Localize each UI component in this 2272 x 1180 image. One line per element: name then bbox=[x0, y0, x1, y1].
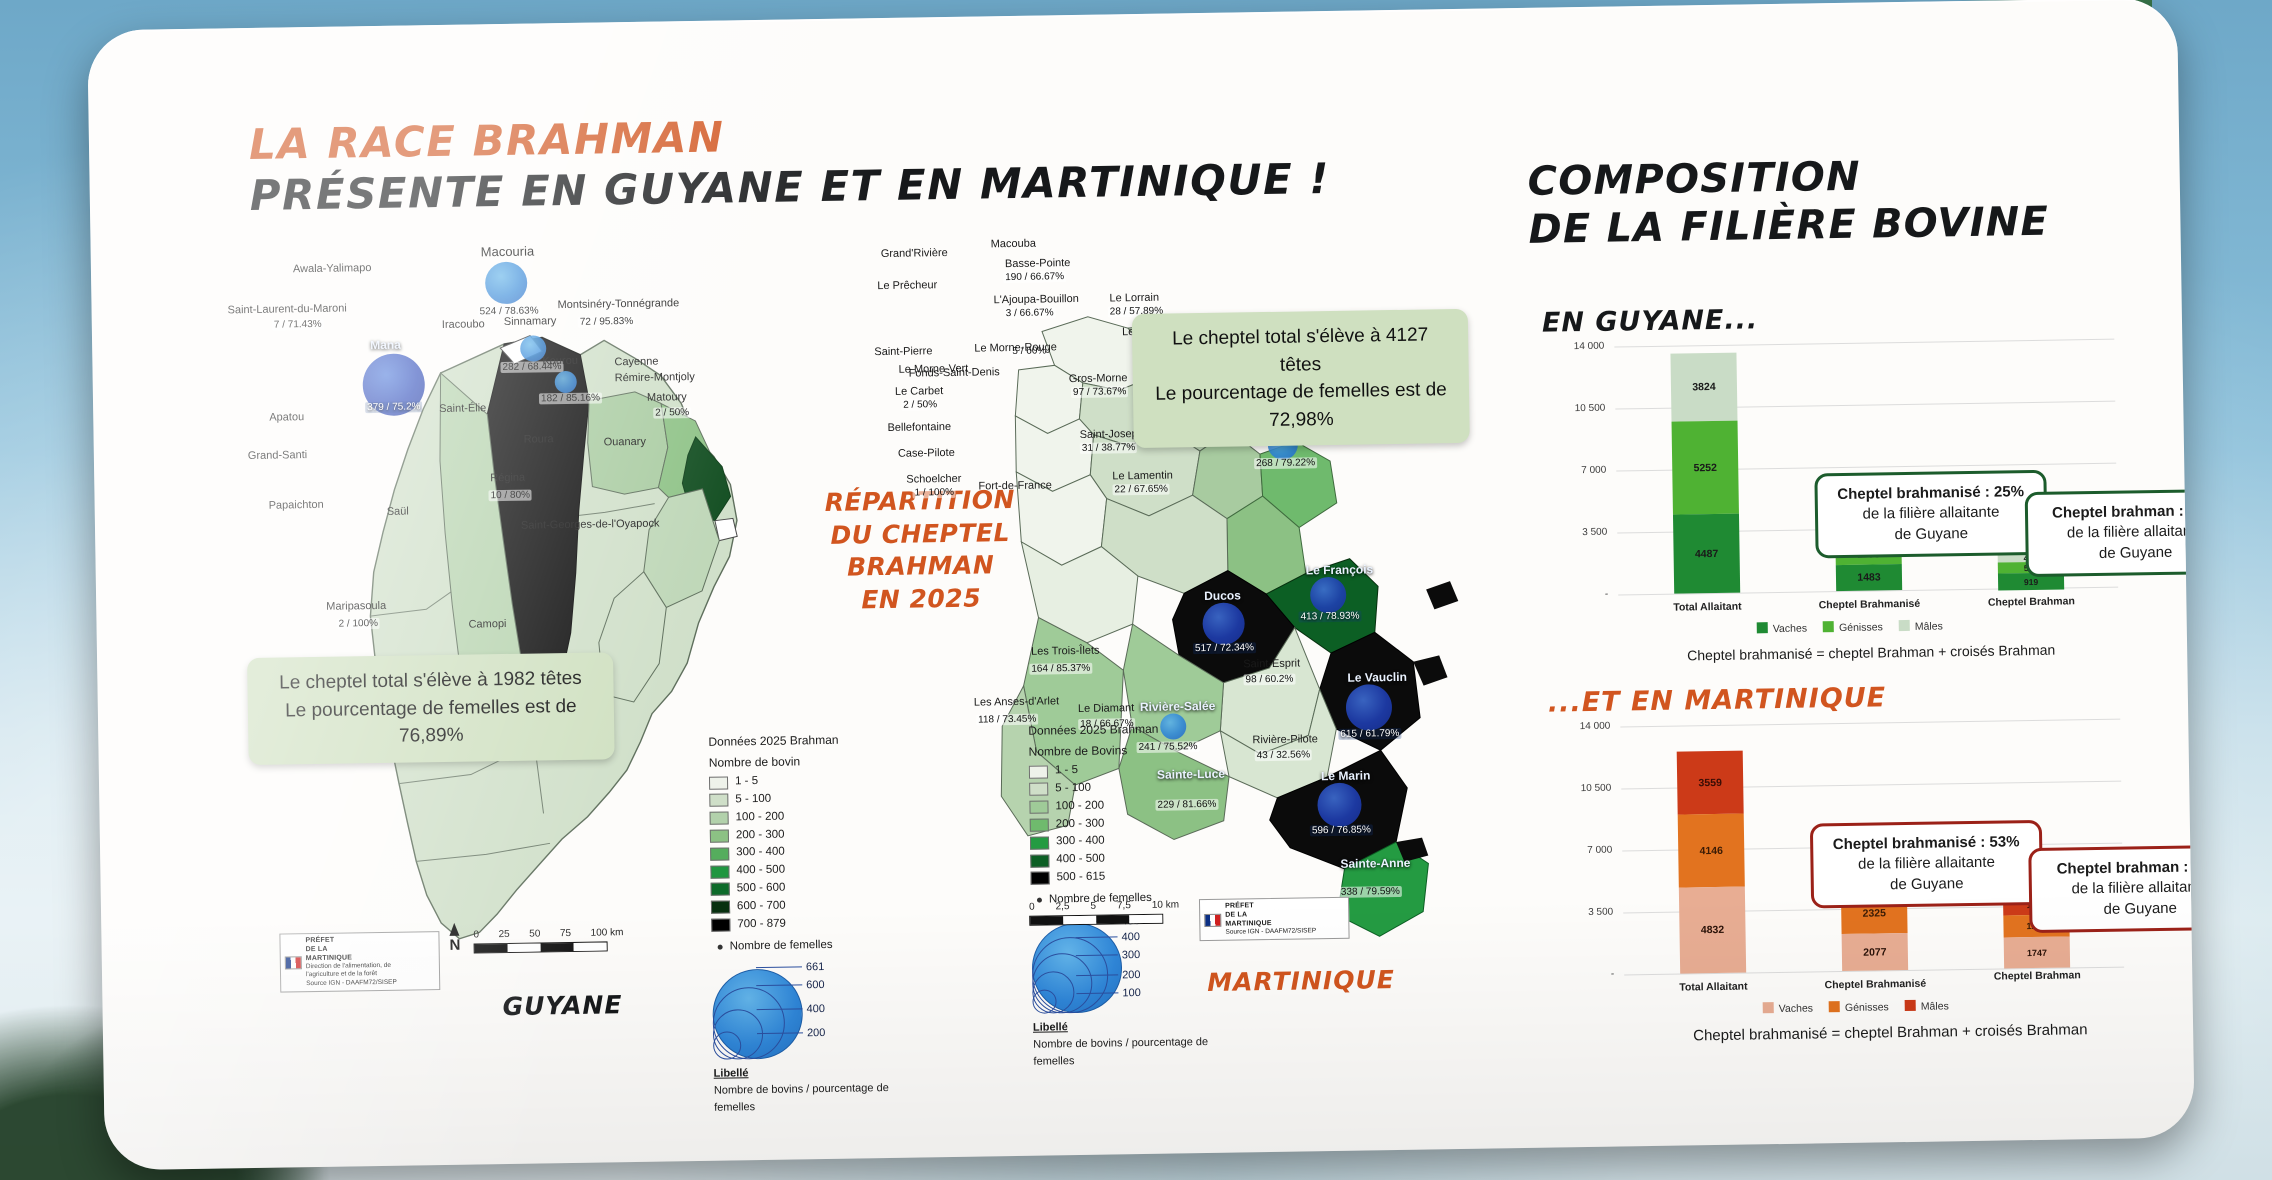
keybox-line-3: de Guyane bbox=[2045, 897, 2195, 920]
bar-segment-males: 3559 bbox=[1677, 751, 1744, 815]
scale-tick: 75 bbox=[560, 928, 571, 939]
commune-value-regina: 10 / 80% bbox=[488, 490, 532, 502]
callout-martinique: Le cheptel total s'élève à 4127 têtes Le… bbox=[1132, 309, 1470, 448]
scale-tick: 0 bbox=[1029, 902, 1035, 913]
commune-label-le-precheur: Le Prêcheur bbox=[877, 279, 937, 292]
y-axis-tick: 7 000 bbox=[1570, 845, 1612, 857]
legend-swatch bbox=[711, 883, 730, 896]
right-heading: COMPOSITION DE LA FILIÈRE BOVINE bbox=[1527, 150, 2049, 254]
commune-label-saint-georges-de-loyapock: Saint-Georges-de-l'Oyapock bbox=[521, 518, 660, 532]
commune-value-saint-esprit: 98 / 60.2% bbox=[1243, 674, 1295, 686]
commune-label-saint-esprit: Saint-Esprit bbox=[1243, 658, 1300, 671]
french-flag-icon bbox=[1204, 913, 1221, 926]
legend-key-vaches bbox=[1763, 1002, 1774, 1013]
legend-entry-males: Mâles bbox=[1899, 619, 1943, 633]
legend-swatch bbox=[710, 812, 729, 825]
bubble-scale-value: 200 bbox=[807, 1025, 826, 1042]
section-title-guyane: EN GUYANE... bbox=[1542, 304, 1759, 338]
bar-segment-vaches: 1483 bbox=[1836, 564, 1902, 591]
scale-tick: 0 bbox=[473, 929, 479, 940]
x-axis-category: Total Allaitant bbox=[1638, 980, 1788, 994]
commune-label-apatou: Apatou bbox=[269, 411, 304, 424]
dot-icon bbox=[718, 945, 723, 950]
commune-value-riviere-pilote: 43 / 32.56% bbox=[1255, 749, 1313, 761]
commune-label-lajoupa-bouillon: L'Ajoupa-Bouillon bbox=[993, 293, 1078, 306]
keybox-guyane-brahmanise: Cheptel brahmanisé : 25% de la filière a… bbox=[1814, 470, 2047, 558]
logo-line-3: MARTINIQUE bbox=[306, 954, 352, 962]
legend-key-genisses bbox=[1829, 1001, 1840, 1012]
commune-label-montsinery-tonnegrande: Montsinéry-Tonnégrande bbox=[557, 297, 679, 311]
logo-prefecture-martinique: PRÉFET DE LA MARTINIQUE Source IGN - DAA… bbox=[1199, 897, 1350, 942]
legend-key-genisses bbox=[1823, 621, 1834, 632]
legend-libelle-martinique: Libellé Nombre de bovins / pourcentage d… bbox=[1033, 1017, 1214, 1071]
commune-label-schoelcher: Schoelcher bbox=[906, 473, 961, 486]
keybox-line-1: Cheptel brahmanisé : 53% bbox=[1833, 833, 2020, 853]
scale-bar-martinique: 0 2,5 5 7,5 10 km bbox=[1029, 899, 1179, 912]
commune-label-riviere-pilote: Rivière-Pilote bbox=[1252, 733, 1318, 746]
logo-source: Source IGN - DAAFM72/SISEP bbox=[306, 978, 397, 988]
x-axis-category: Cheptel Brahmanisé bbox=[1800, 977, 1950, 991]
y-axis-tick: 3 500 bbox=[1565, 527, 1607, 539]
commune-label-case-pilote: Case-Pilote bbox=[898, 447, 955, 460]
commune-value-gros-morne: 97 / 73.67% bbox=[1071, 386, 1129, 398]
callout-martinique-line-2: Le pourcentage de femelles est de 72,98% bbox=[1151, 376, 1452, 436]
commune-value-saint-laurent-du-maroni: 7 / 71.43% bbox=[272, 319, 324, 331]
x-axis-category: Cheptel Brahmanisé bbox=[1794, 597, 1944, 611]
commune-value-matoury: 2 / 50% bbox=[653, 407, 691, 419]
commune-label-saul: Saül bbox=[387, 505, 409, 517]
right-heading-line-2: DE LA FILIÈRE BOVINE bbox=[1528, 198, 2049, 254]
bar-segment-males: 3824 bbox=[1670, 353, 1737, 422]
bubble-scale-value: 661 bbox=[806, 959, 825, 976]
x-axis-category: Cheptel Brahman bbox=[1962, 969, 2112, 983]
legend-label-vaches: Vaches bbox=[1773, 623, 1807, 636]
legend-entry-genisses: Génisses bbox=[1823, 620, 1883, 634]
commune-value-les-trois-ilets: 164 / 85.37% bbox=[1029, 663, 1092, 675]
commune-label-bellefontaine: Bellefontaine bbox=[887, 421, 951, 434]
legend-class-label: 1 - 5 bbox=[1055, 762, 1078, 780]
commune-value-macouria: 524 / 78.63% bbox=[478, 305, 541, 317]
commune-value-mana: 379 / 75.2% bbox=[365, 401, 423, 413]
keybox-line-3: de Guyane bbox=[1831, 523, 2031, 546]
legend-swatch bbox=[710, 865, 729, 878]
leader-line bbox=[756, 967, 802, 969]
legend-bubble-scale-martinique: 458 400 300 200 100 bbox=[1031, 915, 1212, 1014]
legend-key-males bbox=[1899, 620, 1910, 631]
logo-line-2: DE LA bbox=[1225, 911, 1247, 918]
commune-label-le-diamant: Le Diamant bbox=[1078, 702, 1134, 715]
legend-swatch bbox=[709, 794, 728, 807]
commune-label-grand-santi: Grand-Santi bbox=[248, 449, 307, 462]
legend-class-label: 300 - 400 bbox=[736, 844, 785, 863]
commune-label-basse-pointe: Basse-Pointe bbox=[1005, 257, 1071, 270]
commune-value-maripasoula: 2 / 100% bbox=[336, 618, 380, 630]
legend-class-label: 100 - 200 bbox=[1055, 797, 1104, 816]
commune-label-macouba: Macouba bbox=[991, 238, 1036, 251]
legend-swatch bbox=[1030, 819, 1049, 832]
bar-segment-vaches: 1747 bbox=[2004, 936, 2070, 968]
logo-line-1: PRÉFET bbox=[305, 937, 334, 944]
scale-tick: 7,5 bbox=[1117, 900, 1131, 911]
commune-label-le-vauclin: Le Vauclin bbox=[1347, 670, 1407, 685]
commune-label-saint-elie: Saint-Élie bbox=[439, 402, 486, 415]
legend-swatch bbox=[709, 776, 728, 789]
bar-total-allaitant-guyane: 3824 5252 4487 bbox=[1670, 353, 1740, 594]
legend-class-label: 100 - 200 bbox=[735, 808, 784, 827]
legend-swatch bbox=[1029, 765, 1048, 778]
commune-label-iracoubo: Iracoubo bbox=[442, 318, 485, 331]
legend-swatch bbox=[710, 847, 729, 860]
commune-value-saint-joseph: 31 / 38.77% bbox=[1080, 442, 1138, 454]
logo-line-3: MARTINIQUE bbox=[1225, 919, 1271, 927]
scale-tick: 50 bbox=[529, 928, 540, 939]
scale-tick: 100 km bbox=[591, 927, 624, 939]
legend-row: 500 - 615 bbox=[1030, 867, 1210, 888]
keybox-line-1: Cheptel brahmanisé : 25% bbox=[1837, 483, 2024, 503]
commune-label-camopi: Camopi bbox=[468, 618, 506, 631]
commune-label-le-marin: Le Marin bbox=[1321, 768, 1371, 783]
commune-label-maripasoula: Maripasoula bbox=[326, 600, 386, 613]
scale-tick: 10 km bbox=[1152, 899, 1179, 910]
commune-value-basse-pointe: 190 / 66.67% bbox=[1003, 271, 1066, 283]
bubble-scale-value: 200 bbox=[1122, 967, 1141, 984]
legend-swatch bbox=[1031, 872, 1050, 885]
bubble-scale-value: 300 bbox=[1122, 947, 1141, 964]
libelle-text: Nombre de bovins / pourcentage de femell… bbox=[1033, 1034, 1214, 1071]
north-arrow-guyane: N bbox=[449, 923, 460, 954]
legend-swatch bbox=[1029, 801, 1048, 814]
logo-text: PRÉFET DE LA MARTINIQUE Source IGN - DAA… bbox=[1225, 901, 1316, 937]
scale-bar-guyane: 0 25 50 75 100 km bbox=[473, 927, 623, 940]
callout-martinique-line-1: Le cheptel total s'élève à 4127 têtes bbox=[1150, 321, 1451, 381]
legend-class-label: 300 - 400 bbox=[1056, 833, 1105, 852]
commune-label-les-trois-ilets: Les Trois-Îlets bbox=[1031, 645, 1100, 658]
keybox-line-3: de Guyane bbox=[1827, 873, 2027, 896]
commune-label-riviere-salee: Rivière-Salée bbox=[1140, 699, 1216, 714]
chart-note-martinique: Cheptel brahmanisé = cheptel Brahman + c… bbox=[1693, 1021, 2088, 1044]
scale-bar-graphic bbox=[1029, 914, 1163, 926]
legend-label-vaches: Vaches bbox=[1779, 1002, 1813, 1015]
page-title: LA RACE BRAHMAN PRÉSENTE EN GUYANE ET EN… bbox=[249, 107, 1331, 220]
bubble-ring bbox=[1032, 989, 1056, 1013]
x-axis-category: Total Allaitant bbox=[1632, 600, 1782, 614]
legend-swatch bbox=[1030, 836, 1049, 849]
commune-label-sinnamary: Sinnamary bbox=[504, 315, 557, 328]
bubble-scale-value: 400 bbox=[1121, 929, 1140, 946]
legend-martinique: Données 2025 Brahman Nombre de Bovins 1 … bbox=[1028, 719, 1213, 1071]
commune-value-schoelcher: 1 / 100% bbox=[912, 487, 956, 499]
legend-key-males bbox=[1905, 1000, 1916, 1011]
commune-label-fort-de-france: Fort-de-France bbox=[978, 479, 1052, 492]
commune-label-le-lamentin: Le Lamentin bbox=[1112, 469, 1173, 482]
legend-class-label: 500 - 615 bbox=[1056, 869, 1105, 888]
scale-tick: 2,5 bbox=[1055, 901, 1069, 912]
legend-class-label: 600 - 700 bbox=[737, 897, 786, 916]
legend-entry-genisses: Génisses bbox=[1829, 1000, 1889, 1014]
commune-label-le-carbet: Le Carbet bbox=[895, 385, 943, 398]
commune-label-cayenne: Cayenne bbox=[614, 356, 658, 369]
logo-line-2: DE LA bbox=[306, 946, 328, 953]
chart-note-guyane: Cheptel brahmanisé = cheptel Brahman + c… bbox=[1687, 642, 2055, 664]
keybox-guyane-brahman: Cheptel brahman : 14% de la filière alla… bbox=[2025, 489, 2195, 577]
scale-bar-graphic bbox=[474, 941, 608, 953]
legend-key-vaches bbox=[1757, 622, 1768, 633]
legend-guyane-title: Données 2025 Brahman bbox=[708, 730, 888, 751]
y-axis-tick: 7 000 bbox=[1564, 465, 1606, 477]
keybox-line-2: de la filière allaitante bbox=[2045, 877, 2195, 900]
y-axis-tick: 3 500 bbox=[1571, 907, 1613, 919]
legend-entry-vaches: Vaches bbox=[1763, 1001, 1813, 1015]
scale-tick-row: 0 2,5 5 7,5 10 km bbox=[1029, 899, 1179, 912]
chart-legend-martinique: Vaches Génisses Mâles bbox=[1763, 999, 1949, 1015]
bar-segment-vaches: 2077 bbox=[1842, 933, 1909, 971]
legend-guyane: Données 2025 Brahman Nombre de bovin 1 -… bbox=[708, 730, 894, 1117]
legend-class-label: 5 - 100 bbox=[1055, 780, 1091, 798]
commune-value-le-vauclin: 615 / 61.79% bbox=[1338, 728, 1401, 740]
scale-tick: 5 bbox=[1090, 901, 1096, 912]
y-axis-tick: 14 000 bbox=[1562, 341, 1604, 353]
bubble-scale-value: 100 bbox=[1122, 985, 1141, 1002]
legend-class-label: 500 - 600 bbox=[737, 880, 786, 899]
commune-value-le-carbet: 2 / 50% bbox=[901, 399, 939, 411]
commune-value-le-marin: 596 / 76.85% bbox=[1310, 824, 1373, 836]
commune-label-le-francois: Le François bbox=[1306, 562, 1374, 577]
keybox-line-3: de Guyane bbox=[2041, 541, 2194, 564]
commune-label-ducos: Ducos bbox=[1204, 588, 1241, 603]
bubble-scale-value: 600 bbox=[806, 977, 825, 994]
right-heading-line-1: COMPOSITION bbox=[1527, 150, 2048, 206]
legend-class-label: 400 - 500 bbox=[736, 862, 785, 881]
callout-guyane-line-2: Le pourcentage de femelles est de 76,89% bbox=[266, 692, 597, 752]
chart-legend-guyane: Vaches Génisses Mâles bbox=[1757, 619, 1943, 635]
gridline bbox=[1614, 339, 2114, 348]
commune-label-gros-morne: Gros-Morne bbox=[1069, 372, 1128, 385]
section-title-martinique: ...ET EN MARTINIQUE bbox=[1548, 682, 1887, 718]
commune-label-les-anses-darlet: Les Anses-d'Arlet bbox=[974, 695, 1059, 708]
commune-label-papaichton: Papaichton bbox=[269, 499, 324, 512]
scale-tick: 25 bbox=[498, 929, 509, 940]
legend-bubble-title: Nombre de femelles bbox=[730, 936, 833, 955]
logo-prefecture-guyane: PRÉFET DE LA MARTINIQUE Direction de l'a… bbox=[279, 931, 440, 992]
y-axis-tick: 10 500 bbox=[1563, 403, 1605, 415]
commune-value-ducos: 517 / 72.34% bbox=[1193, 642, 1256, 654]
libelle-text: Nombre de bovins / pourcentage de femell… bbox=[714, 1080, 895, 1117]
legend-label-genisses: Génisses bbox=[1845, 1001, 1889, 1014]
commune-label-ouanary: Ouanary bbox=[604, 436, 646, 449]
logo-org: Direction de l'alimentation, de l'agricu… bbox=[306, 962, 392, 980]
legend-class-label: 5 - 100 bbox=[735, 791, 771, 809]
logo-line-1: PRÉFET bbox=[1225, 902, 1254, 909]
commune-value-le-robert: 268 / 79.22% bbox=[1254, 457, 1317, 469]
commune-label-saint-laurent-du-maroni: Saint-Laurent-du-Maroni bbox=[227, 302, 346, 316]
commune-label-matoury: Matoury bbox=[647, 391, 687, 404]
bar-segment-genisses: 5252 bbox=[1672, 421, 1739, 515]
commune-value-kourou: 182 / 85.16% bbox=[539, 392, 602, 404]
commune-label-roura: Roura bbox=[524, 433, 554, 445]
y-axis-tick: 14 000 bbox=[1568, 721, 1610, 733]
legend-label-males: Mâles bbox=[1915, 620, 1943, 632]
legend-swatch bbox=[1029, 783, 1048, 796]
legend-entry-vaches: Vaches bbox=[1757, 622, 1807, 636]
commune-label-remire-montjoly: Rémire-Montjoly bbox=[615, 371, 695, 384]
x-axis-category: Cheptel Brahman bbox=[1956, 595, 2106, 609]
legend-guyane-subtitle: Nombre de bovin bbox=[709, 751, 889, 772]
commune-value-le-francois: 413 / 78.93% bbox=[1298, 611, 1361, 623]
legend-row: 700 - 879 bbox=[711, 914, 891, 935]
legend-class-label: 1 - 5 bbox=[735, 773, 758, 791]
logo-text: PRÉFET DE LA MARTINIQUE Direction de l'a… bbox=[305, 936, 396, 988]
commune-label-sainte-anne: Sainte-Anne bbox=[1340, 856, 1410, 871]
y-axis-tick: - bbox=[1566, 589, 1608, 601]
map-caption-guyane: GUYANE bbox=[502, 990, 622, 1021]
commune-label-mana: Mana bbox=[370, 338, 401, 352]
french-flag-icon bbox=[285, 956, 302, 969]
callout-guyane: Le cheptel total s'élève à 1982 têtes Le… bbox=[247, 652, 615, 764]
commune-label-kourou: Kourou bbox=[542, 355, 578, 368]
legend-swatch bbox=[1030, 854, 1049, 867]
commune-label-grand-riviere: Grand'Rivière bbox=[881, 247, 948, 260]
libelle-title: Libellé bbox=[714, 1068, 749, 1081]
commune-value-montsinery-tonnegrande: 72 / 95.83% bbox=[578, 316, 636, 328]
legend-swatch bbox=[710, 830, 729, 843]
y-axis-tick: 10 500 bbox=[1569, 783, 1611, 795]
bar-segment-vaches: 4487 bbox=[1673, 514, 1740, 594]
logo-source: Source IGN - DAAFM72/SISEP bbox=[1225, 928, 1316, 938]
keybox-martinique-brahmanise: Cheptel brahmanisé : 53% de la filière a… bbox=[1810, 820, 2043, 908]
y-axis-tick: - bbox=[1572, 969, 1614, 981]
legend-bubble-scale-guyane: 661 600 400 200 bbox=[712, 961, 893, 1060]
legend-swatch bbox=[711, 919, 730, 932]
libelle-title: Libellé bbox=[1033, 1021, 1068, 1034]
legend-class-label: 700 - 879 bbox=[737, 915, 786, 934]
north-arrow-triangle bbox=[450, 923, 460, 936]
legend-class-label: 200 - 300 bbox=[1056, 815, 1105, 834]
commune-label-saint-pierre: Saint-Pierre bbox=[874, 345, 932, 358]
legend-bubble-title-row: Nombre de femelles bbox=[712, 935, 892, 956]
commune-label-awala-yalimapo: Awala-Yalimapo bbox=[293, 262, 372, 275]
gridline bbox=[1620, 719, 2120, 728]
map-guyane: Awala-Yalimapo Saint-Laurent-du-Maroni 7… bbox=[241, 270, 772, 978]
bar-segment-vaches: 4832 bbox=[1679, 887, 1746, 974]
legend-label-males: Mâles bbox=[1921, 1000, 1949, 1012]
bar-segment-genisses: 4146 bbox=[1678, 814, 1745, 888]
north-label: N bbox=[449, 937, 460, 954]
legend-swatch bbox=[711, 901, 730, 914]
bar-total-allaitant-martinique: 3559 4146 4832 bbox=[1677, 751, 1746, 974]
commune-label-macouria: Macouria bbox=[481, 243, 535, 259]
commune-label-le-lorrain: Le Lorrain bbox=[1109, 292, 1159, 305]
keybox-line-1: Cheptel brahman : 33% bbox=[2057, 858, 2195, 878]
legend-entry-males: Mâles bbox=[1905, 999, 1949, 1013]
commune-label-le-morne-vert: Le Morne-Vert bbox=[899, 363, 969, 376]
legend-label-genisses: Génisses bbox=[1839, 621, 1883, 634]
poster-panel: LA RACE BRAHMAN PRÉSENTE EN GUYANE ET EN… bbox=[87, 0, 2195, 1170]
commune-value-le-lamentin: 22 / 67.65% bbox=[1112, 484, 1170, 496]
keybox-martinique-brahman: Cheptel brahman : 33% de la filière alla… bbox=[2028, 845, 2195, 933]
keybox-line-1: Cheptel brahman : 14% bbox=[2052, 502, 2195, 522]
legend-libelle-guyane: Libellé Nombre de bovins / pourcentage d… bbox=[714, 1063, 895, 1117]
bubble-scale-value: 400 bbox=[807, 1001, 826, 1018]
commune-label-le-morne-rouge: Le Morne-Rouge bbox=[974, 341, 1057, 354]
commune-value-lajoupa-bouillon: 3 / 66.67% bbox=[1004, 307, 1056, 319]
legend-class-label: 200 - 300 bbox=[736, 826, 785, 845]
commune-label-regina: Régina bbox=[490, 472, 525, 485]
keybox-line-2: de la filière allaitante bbox=[2041, 521, 2195, 544]
scale-tick-row: 0 25 50 75 100 km bbox=[473, 927, 623, 940]
legend-martinique-title: Données 2025 Brahman bbox=[1028, 719, 1208, 740]
legend-martinique-subtitle: Nombre de Bovins bbox=[1028, 740, 1208, 761]
legend-class-label: 400 - 500 bbox=[1056, 851, 1105, 870]
